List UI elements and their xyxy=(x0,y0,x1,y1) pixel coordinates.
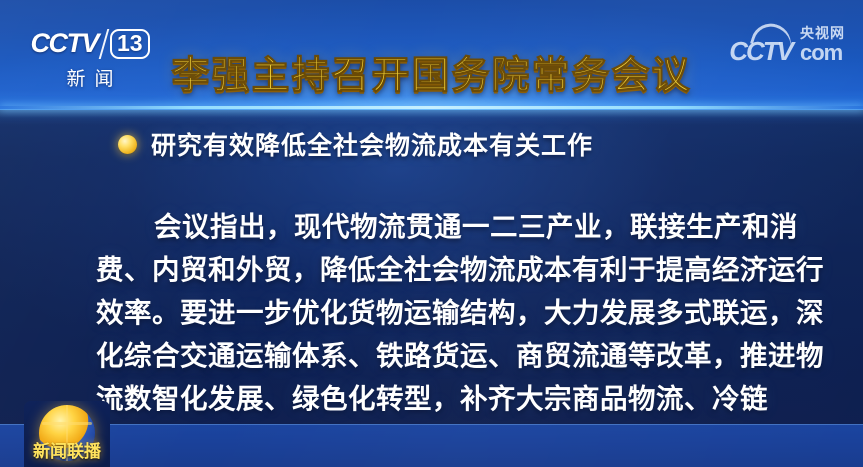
body-line: 化综合交通运输体系、铁路货运、商贸流通等改革，推进物 xyxy=(96,335,800,378)
watermark-right: 央视网 com xyxy=(800,26,845,64)
program-logo-label: 新闻联播 xyxy=(24,437,110,462)
body-line: 费、内贸和外贸，降低全社会物流成本有利于提高经济运行 xyxy=(96,249,800,292)
body-paragraph: 会议指出，现代物流贯通一二三产业，联接生产和消 费、内贸和外贸，降低全社会物流成… xyxy=(96,206,800,421)
subtitle-row: 研究有效降低全社会物流成本有关工作 xyxy=(118,126,593,162)
watermark-domain-text: com xyxy=(800,42,842,64)
broadcast-news-frame: CCTV 13 新闻 李强主持召开国务院常务会议 CCTV 央视网 com 研究… xyxy=(0,0,863,467)
body-line: 流数智化发展、绿色化转型，补齐大宗商品物流、冷链 xyxy=(96,378,800,421)
body-line: 效率。要进一步优化货物运输结构，大力发展多式联运，深 xyxy=(96,292,800,335)
cctv-com-watermark: CCTV 央视网 com xyxy=(729,26,845,64)
bottom-bar xyxy=(0,424,863,467)
subtitle-text: 研究有效降低全社会物流成本有关工作 xyxy=(151,126,593,162)
program-logo-xinwenlianbo: 新闻联播 xyxy=(24,401,110,467)
gold-dot-icon xyxy=(118,135,137,154)
body-line: 会议指出，现代物流贯通一二三产业，联接生产和消 xyxy=(96,206,800,249)
header-under-glow xyxy=(0,109,863,125)
